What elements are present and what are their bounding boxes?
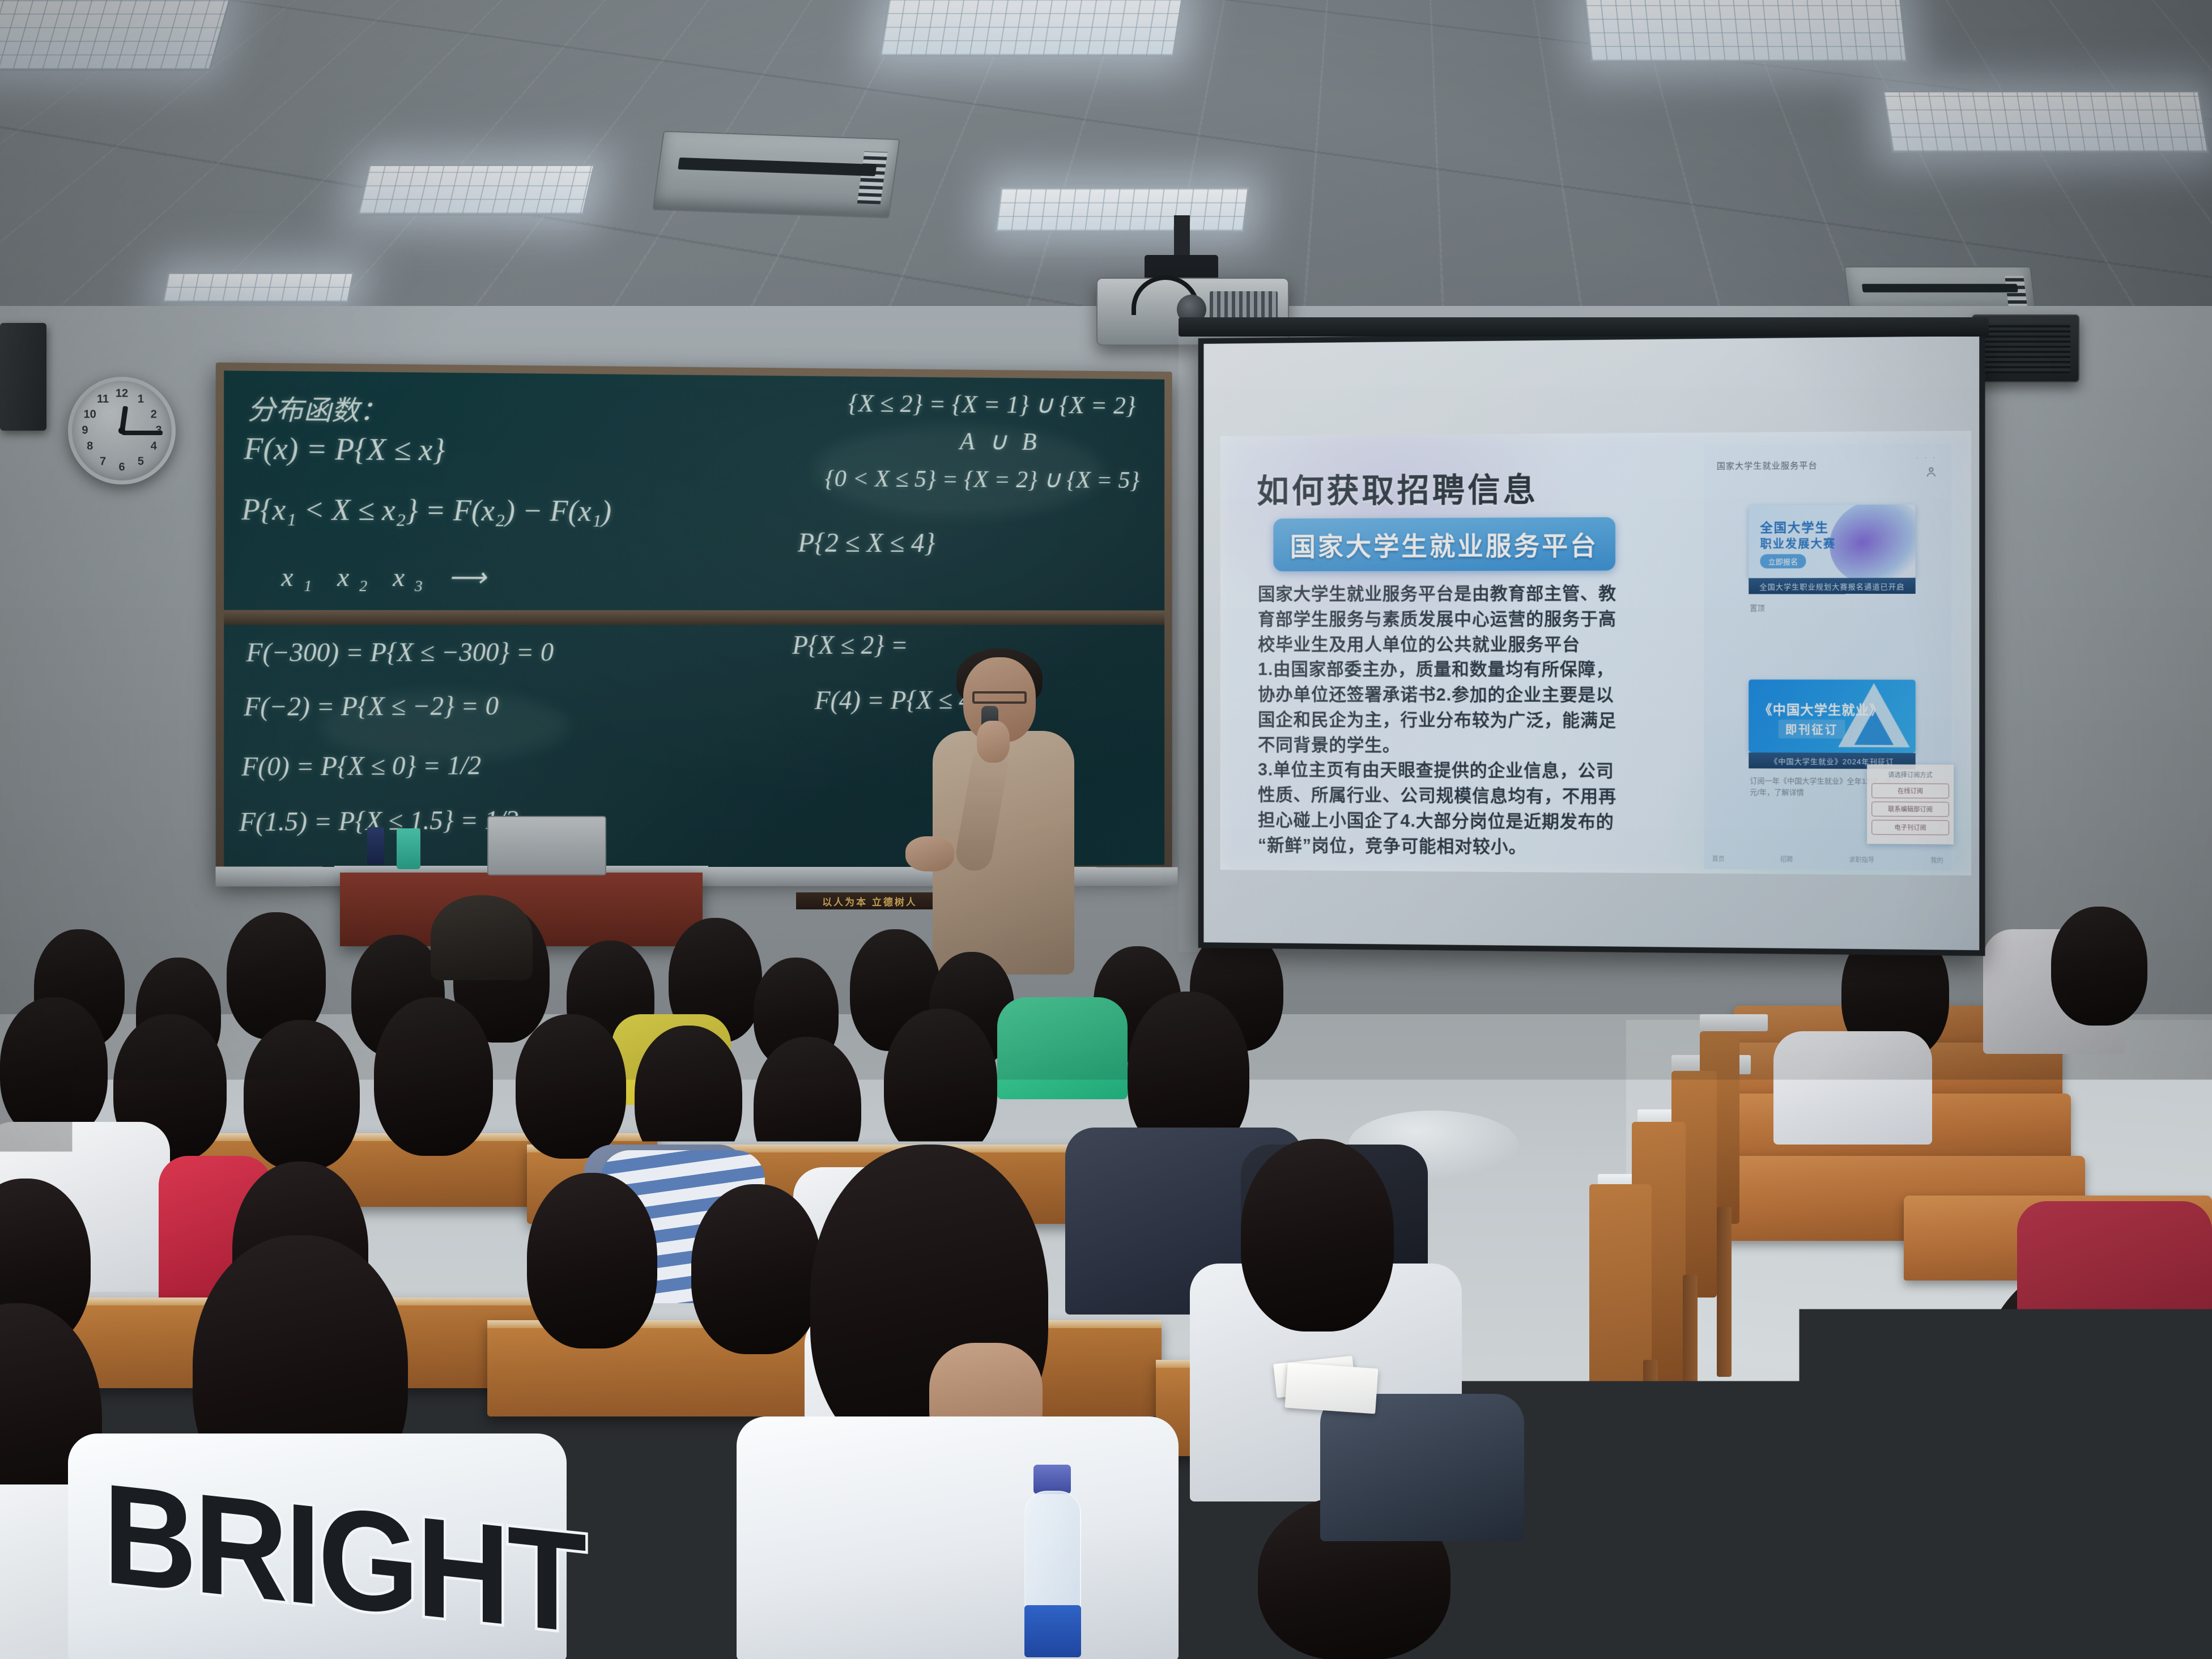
student-torso xyxy=(2017,1201,2212,1349)
student-torso xyxy=(1320,1394,1524,1541)
student-head xyxy=(754,1037,861,1179)
slide-title: 如何获取招聘信息 xyxy=(1257,463,1538,512)
slide-body-line: 1.由国家部委主办，质量和数量均有所保障， xyxy=(1258,658,1617,682)
chalk-line: {0 < X ≤ 5} = {X = 2} ∪ {X = 5} xyxy=(825,464,1139,494)
bench-leg xyxy=(1683,1275,1698,1462)
student-head xyxy=(0,997,108,1139)
presenter-glasses xyxy=(972,691,1027,704)
chalk-line: x₁ x₂ x₃ ⟶ xyxy=(281,561,495,592)
watermark: 电子科技大学中山学院 University of Electronic Scie… xyxy=(1918,1610,2197,1645)
plaque-text: 以人为本 立德树人 xyxy=(822,894,917,908)
student-head xyxy=(516,1014,626,1159)
popup-option[interactable]: 在线订阅 xyxy=(1871,783,1949,798)
popup-option[interactable]: 联系编辑部订阅 xyxy=(1871,802,1949,817)
card-title-line2: 即刊征订 xyxy=(1779,720,1845,739)
student-head xyxy=(2051,907,2147,1026)
projection-screen: 如何获取招聘信息 国家大学生就业服务平台 国家大学生就业服务平台是由教育部主管、… xyxy=(1198,330,1985,956)
phone-tab-bar[interactable]: 首页 招聘 求职指导 我的 xyxy=(1712,854,1943,865)
chalk-line: F(−300) = P{X ≤ −300} = 0 xyxy=(246,637,554,667)
user-avatar-icon xyxy=(1925,465,1937,478)
chalk-line: A ∪ B xyxy=(960,427,1041,456)
popup-title: 请选择订阅方式 xyxy=(1871,770,1949,780)
card-cta-chip[interactable]: 立即报名 xyxy=(1760,554,1806,568)
slide-highlight-pill: 国家大学生就业服务平台 xyxy=(1273,517,1615,572)
presenter-hand-gesturing xyxy=(905,836,954,871)
water-bottle xyxy=(1020,1465,1086,1657)
chalk-line: P{X ≤ 2} = xyxy=(792,630,908,660)
ceiling-light-panel xyxy=(161,272,355,303)
bench-leg xyxy=(1717,1207,1732,1377)
slide-body-line: 性质、所属行业、公司规模信息均有，不用再 xyxy=(1258,783,1617,809)
chalk-line: P{2 ≤ X ≤ 4} xyxy=(798,528,935,559)
bench-side-panel xyxy=(1589,1184,1652,1501)
student-head xyxy=(374,997,493,1156)
student-head xyxy=(691,1184,822,1354)
ceiling-light-panel xyxy=(1583,0,1908,62)
student-torso xyxy=(1773,1031,1932,1145)
slide-body-line: 3.单位主页有由天眼查提供的企业信息，公司 xyxy=(1258,758,1617,784)
tab-home[interactable]: 首页 xyxy=(1712,854,1725,863)
chalk-line: {X ≤ 2} = {X = 1} ∪ {X = 2} xyxy=(848,388,1135,420)
slide-body-line: 不同背景的学生。 xyxy=(1258,733,1617,759)
desk-surface xyxy=(1700,1014,1768,1031)
student-head xyxy=(527,1173,657,1349)
bench-leg xyxy=(1643,1360,1658,1564)
card-title-line1: 《中国大学生就业》 xyxy=(1759,699,1883,719)
marker-box xyxy=(367,827,384,865)
popup-option[interactable]: 电子刊订阅 xyxy=(1871,820,1949,835)
slide-body-line: “新鲜”岗位，竞争可能相对较小。 xyxy=(1258,833,1617,860)
bottle-cap xyxy=(1033,1465,1071,1494)
phone-app-title: 国家大学生就业服务平台 xyxy=(1717,460,1818,472)
tissue-on-desk xyxy=(1284,1363,1378,1414)
university-logo-icon xyxy=(1918,1613,1947,1643)
ceiling-light-panel xyxy=(1882,91,2209,153)
slide-body-line: 育部学生服务与素质发展中心运营的服务于高 xyxy=(1258,607,1617,632)
blackboard-divider xyxy=(224,610,1164,625)
tab-profile[interactable]: 我的 xyxy=(1930,856,1943,865)
banner-card-magazine[interactable]: 《中国大学生就业》 即刊征订 xyxy=(1749,679,1915,753)
wall-clock: 121 23 45 67 89 1011 xyxy=(68,377,176,484)
student-torso xyxy=(997,997,1128,1099)
tab-jobs[interactable]: 招聘 xyxy=(1780,854,1793,863)
card-caption: 全国大学生职业规划大赛报名通道已开启 xyxy=(1749,578,1915,594)
laptop xyxy=(487,816,606,875)
presentation-slide: 如何获取招聘信息 国家大学生就业服务平台 国家大学生就业服务平台是由教育部主管、… xyxy=(1220,431,1971,875)
slide-body-line: 国家大学生就业服务平台是由教育部主管、教 xyxy=(1258,582,1617,607)
chalk-line: F(0) = P{X ≤ 0} = 1/2 xyxy=(241,750,481,782)
ceiling-light-panel xyxy=(357,164,595,215)
spray-bottle xyxy=(397,828,420,869)
ceiling-light-panel xyxy=(879,0,1183,57)
watermark-english-name: University of Electronic Science and Tec… xyxy=(1955,1639,2197,1645)
tab-guidance[interactable]: 求职指导 xyxy=(1849,855,1874,864)
card-note: 置顶 xyxy=(1750,602,1764,613)
slide-body-line: 国企和民企为主，行业分布较为广泛，能满足 xyxy=(1258,708,1617,733)
clock-minute-hand xyxy=(122,431,163,435)
subscription-popup[interactable]: 请选择订阅方式 在线订阅 联系编辑部订阅 电子刊订阅 xyxy=(1867,764,1954,844)
card-title-line1: 全国大学生 xyxy=(1760,517,1829,536)
bottle-label xyxy=(1024,1605,1081,1657)
chalk-line: F(x) = P{X ≤ x} xyxy=(244,431,445,467)
wall-speaker-left xyxy=(0,323,46,431)
clock-center-pin xyxy=(118,427,125,434)
slide-body-text: 国家大学生就业服务平台是由教育部主管、教 育部学生服务与素质发展中心运营的服务于… xyxy=(1258,582,1617,861)
student-torso-foreground xyxy=(737,1416,1179,1659)
slide-body-line: 协办单位还签署承诺书2.参加的企业主要是以 xyxy=(1258,683,1617,708)
student-head-with-cap xyxy=(431,895,533,980)
card-title-line2: 职业发展大赛 xyxy=(1760,534,1836,551)
chalk-line: F(−2) = P{X ≤ −2} = 0 xyxy=(244,691,499,722)
student-head xyxy=(884,1009,997,1159)
slide-body-line: 校毕业生及用人单位的公共就业服务平台 xyxy=(1258,633,1617,657)
phone-status-icons: ··· xyxy=(1916,453,1941,461)
ceiling-light-panel xyxy=(0,0,232,71)
chalk-line: 分布函数： xyxy=(248,387,388,428)
chalk-line: P{x₁ < X ≤ x₂} = F(x₂) − F(x₁) xyxy=(241,493,611,528)
student-head xyxy=(1241,1139,1394,1332)
air-conditioner-vent xyxy=(652,131,900,219)
student-head xyxy=(244,1020,360,1170)
presenter-hand xyxy=(977,721,1010,763)
wall-plaque: 以人为本 立德树人 xyxy=(796,892,943,909)
ceiling-light-panel xyxy=(994,187,1249,232)
lecture-hall-photo: 121 23 45 67 89 1011 分布函数： F(x) = P{X ≤ … xyxy=(0,0,2212,1659)
watermark-chinese-name: 电子科技大学中山学院 xyxy=(1955,1610,2197,1639)
projection-screen-roller xyxy=(1179,317,1989,337)
slide-body-line: 担心碰上小国企了4.大部分岗位是近期发布的 xyxy=(1258,809,1617,835)
banner-card-career-contest[interactable]: 全国大学生 职业发展大赛 立即报名 xyxy=(1749,504,1915,578)
phone-screenshot: 国家大学生就业服务平台 ··· 全国大学生 职业发展大赛 立即报名 全国大学生职… xyxy=(1704,444,1952,871)
